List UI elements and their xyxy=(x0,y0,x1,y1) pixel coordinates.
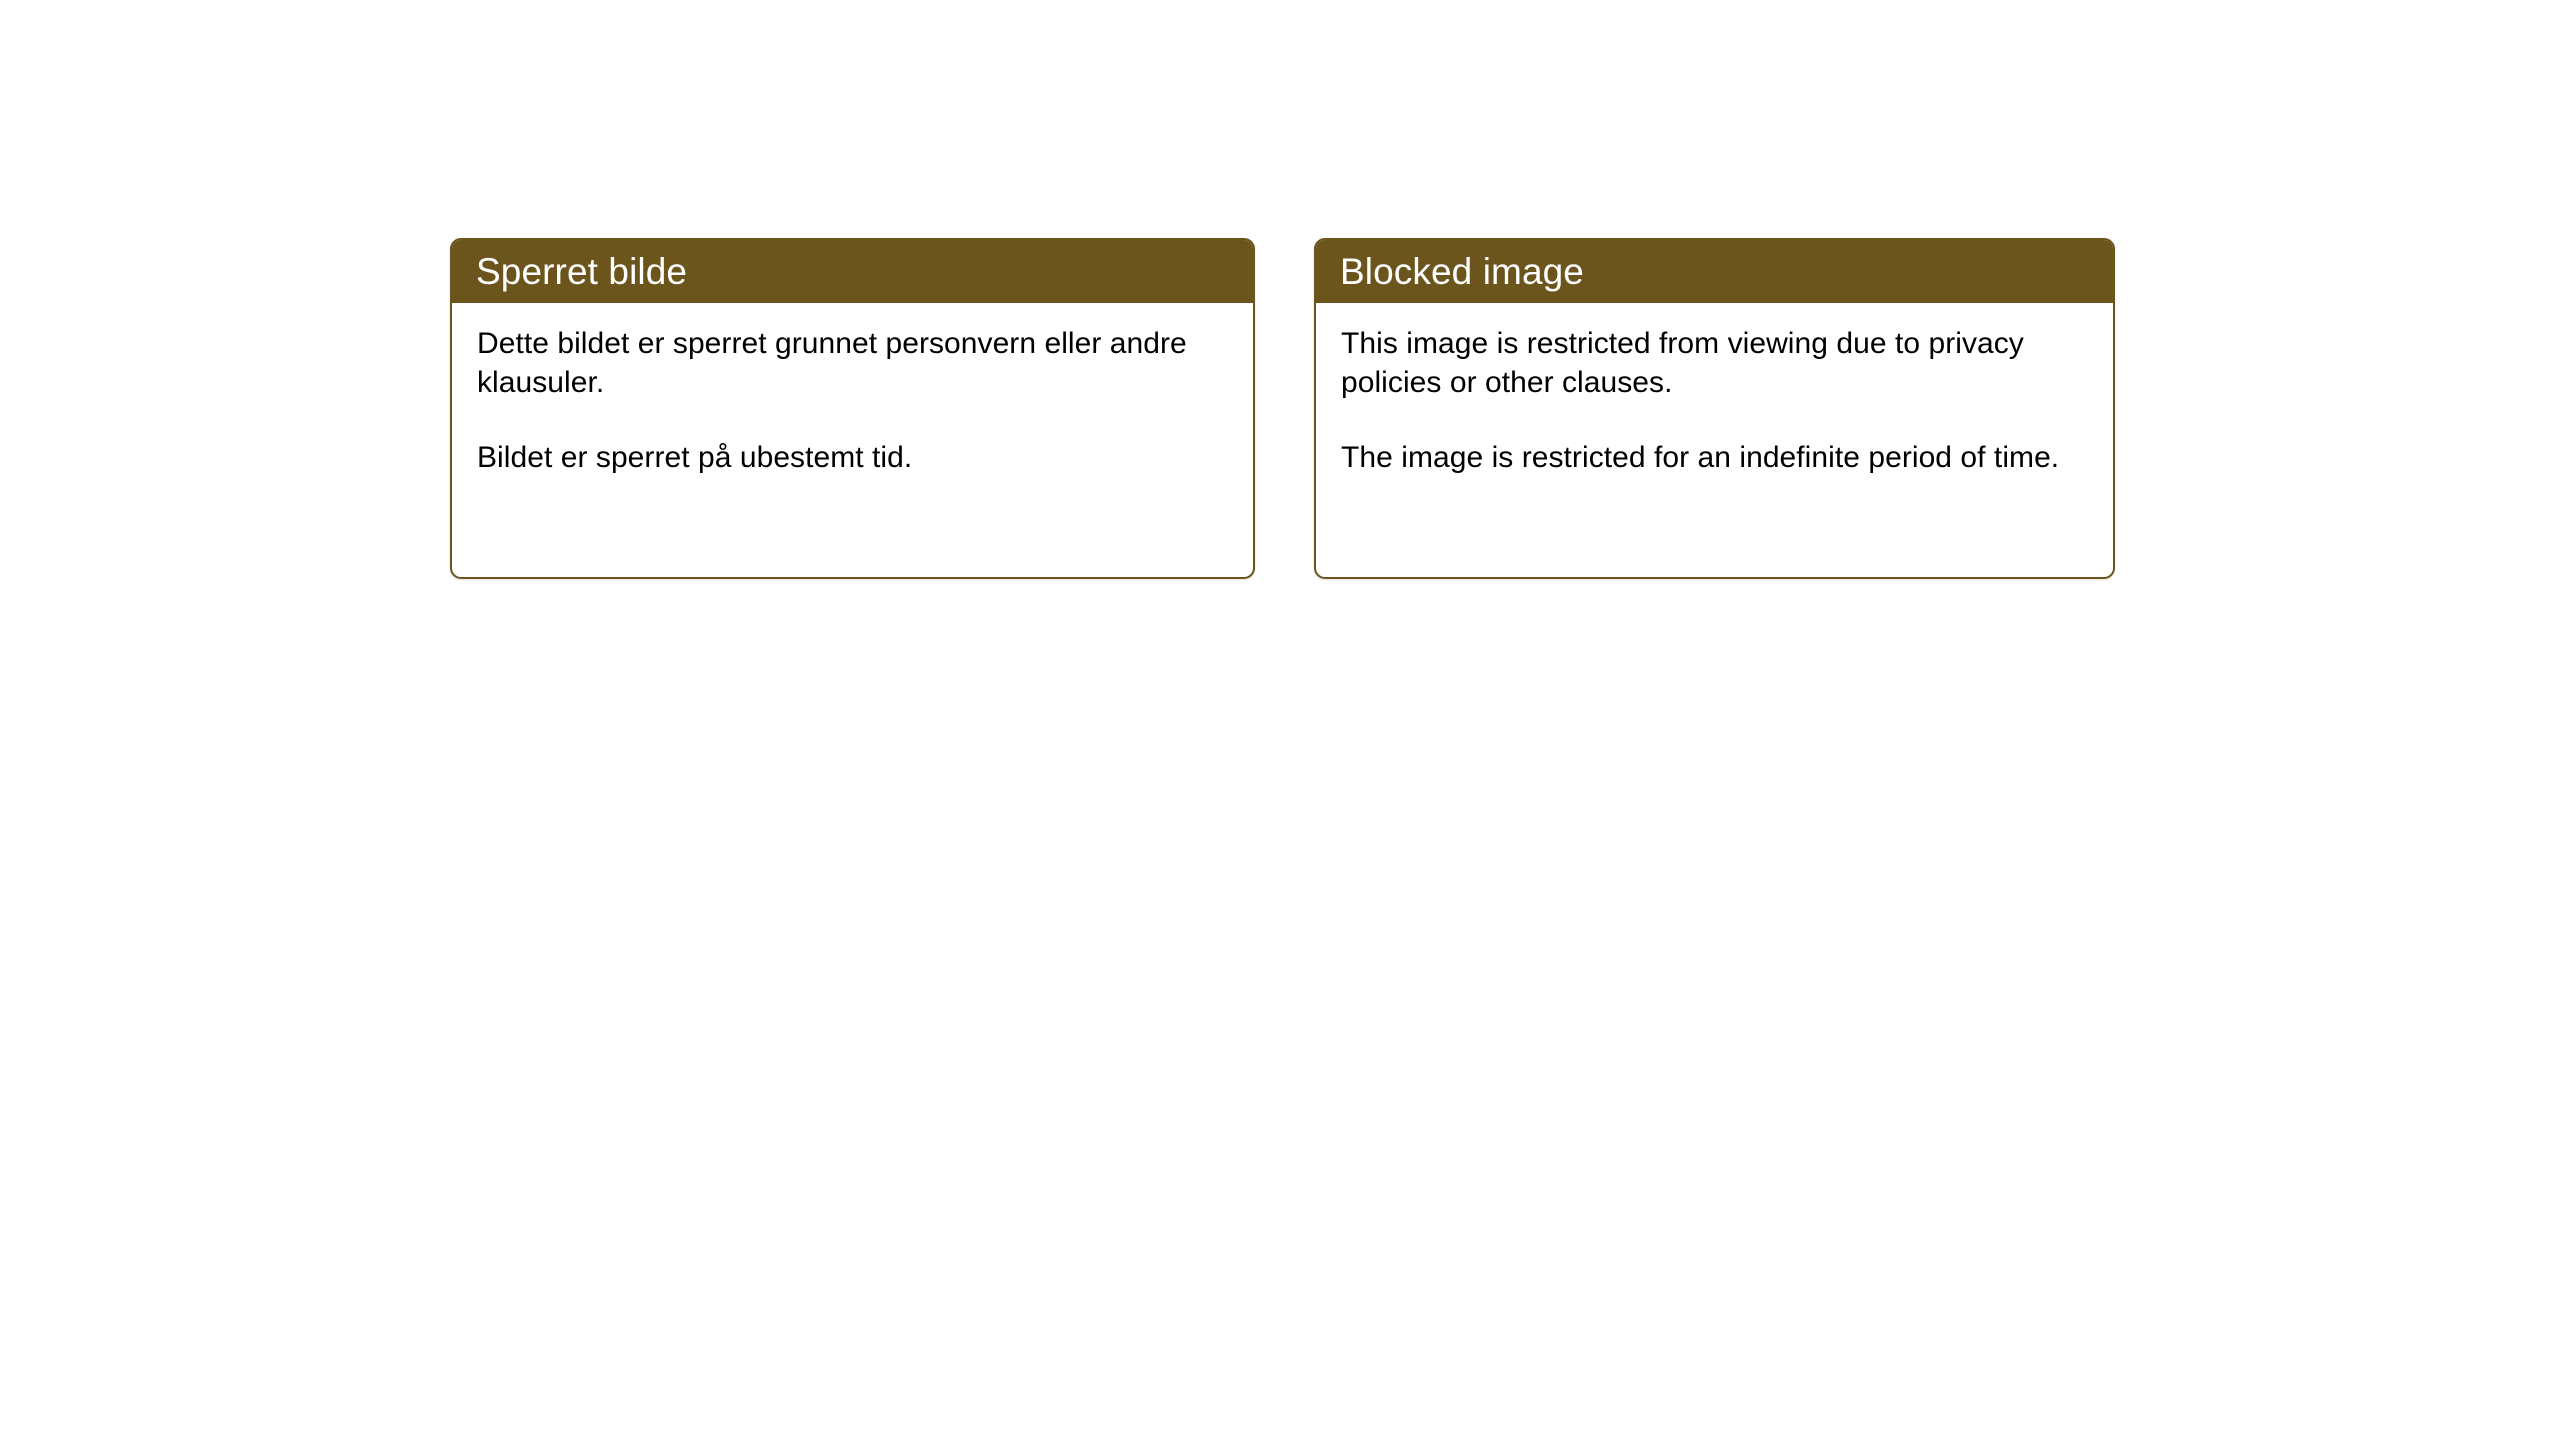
card-paragraph-duration: The image is restricted for an indefinit… xyxy=(1341,439,2089,478)
card-header: Blocked image xyxy=(1316,240,2113,303)
card-paragraph-reason: This image is restricted from viewing du… xyxy=(1341,325,2089,402)
blocked-image-card-norwegian: Sperret bilde Dette bildet er sperret gr… xyxy=(450,238,1255,579)
card-paragraph-duration: Bildet er sperret på ubestemt tid. xyxy=(477,439,1229,478)
card-title: Blocked image xyxy=(1340,253,1584,290)
card-title: Sperret bilde xyxy=(476,253,687,290)
card-header: Sperret bilde xyxy=(452,240,1253,303)
page-root: Sperret bilde Dette bildet er sperret gr… xyxy=(0,0,2560,1440)
blocked-image-card-english: Blocked image This image is restricted f… xyxy=(1314,238,2115,579)
card-paragraph-reason: Dette bildet er sperret grunnet personve… xyxy=(477,325,1229,402)
card-body: Dette bildet er sperret grunnet personve… xyxy=(452,303,1253,478)
card-body: This image is restricted from viewing du… xyxy=(1316,303,2113,478)
